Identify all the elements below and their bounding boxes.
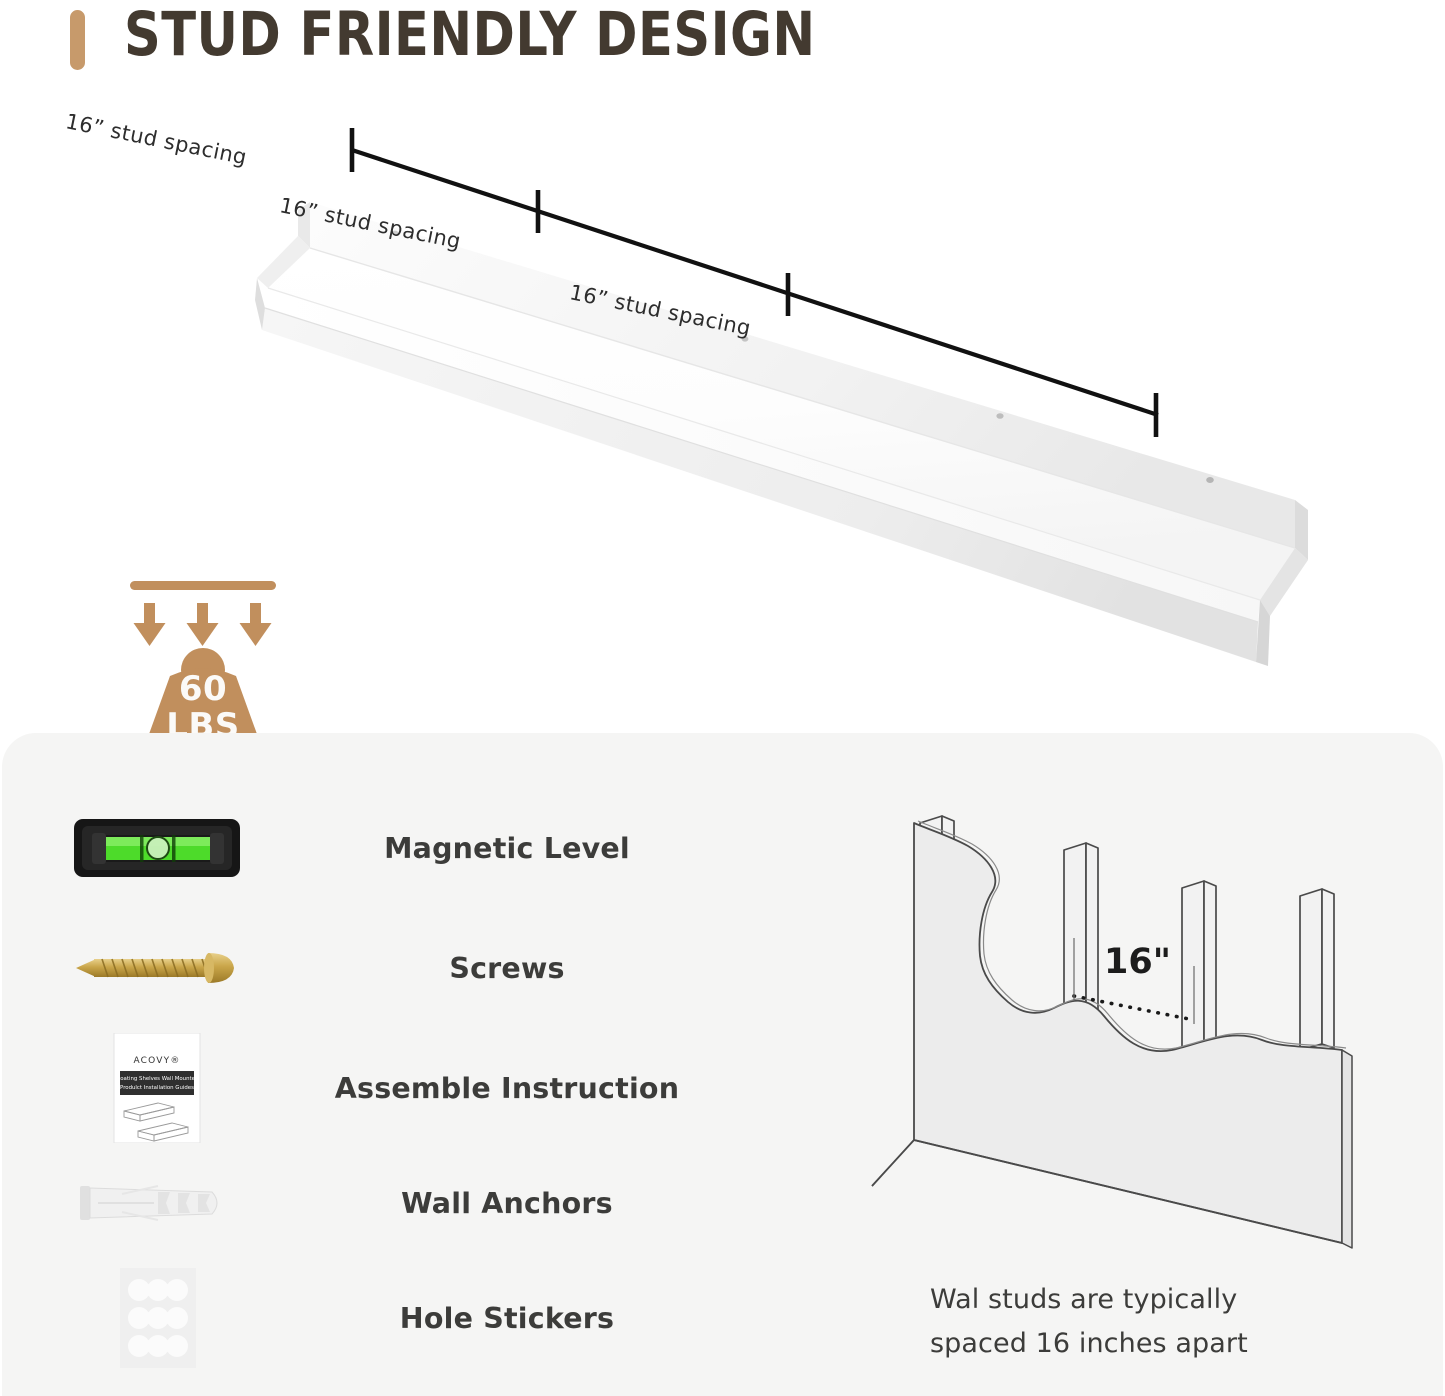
part-label-assemble-instruction: Assemble Instruction bbox=[252, 1072, 762, 1105]
list-item: Magnetic Level bbox=[62, 793, 762, 903]
parts-list: Magnetic Level bbox=[62, 783, 762, 1383]
part-label-hole-stickers: Hole Stickers bbox=[252, 1302, 762, 1335]
weight-value: 60 bbox=[179, 669, 227, 709]
header-section: STUD FRIENDLY DESIGN bbox=[0, 0, 1445, 95]
wall-stud-diagram: 16" Wal studs are typically spaced 16 in… bbox=[842, 788, 1362, 1348]
list-item: Screws bbox=[62, 913, 762, 1023]
page-title: STUD FRIENDLY DESIGN bbox=[124, 3, 816, 67]
wall-cutaway-illustration: 16" bbox=[842, 788, 1362, 1258]
title-accent-bar bbox=[70, 10, 85, 70]
caption-line-2: spaced 16 inches apart bbox=[930, 1328, 1248, 1359]
caption-line-1: Wal studs are typically bbox=[930, 1284, 1237, 1315]
booklet-line1: Floating Shelves Wall Mounted bbox=[116, 1076, 199, 1082]
hole-stickers-icon bbox=[62, 1263, 252, 1373]
hero-section: 16” stud spacing 16” stud spacing 16” st… bbox=[0, 95, 1445, 715]
part-label-magnetic-level: Magnetic Level bbox=[252, 832, 762, 865]
booklet-line2: Produlct Installation Guides bbox=[120, 1085, 194, 1091]
list-item: Hole Stickers bbox=[62, 1263, 762, 1373]
screw-icon bbox=[62, 913, 252, 1023]
part-label-screws: Screws bbox=[252, 952, 762, 985]
part-label-wall-anchors: Wall Anchors bbox=[252, 1187, 762, 1220]
list-item: Wall Anchors bbox=[62, 1148, 762, 1258]
magnetic-level-icon bbox=[62, 793, 252, 903]
wall-diagram-caption: Wal studs are typically spaced 16 inches… bbox=[930, 1278, 1350, 1365]
dimension-label-1: 16” stud spacing bbox=[64, 109, 249, 169]
wall-anchor-icon bbox=[62, 1148, 252, 1258]
stud-spacing-dimension-line bbox=[300, 95, 1220, 455]
booklet-brand-text: ACOVY® bbox=[133, 1056, 180, 1066]
stud-spacing-label: 16" bbox=[1104, 942, 1171, 982]
list-item: ACOVY® Floating Shelves Wall Mounted Pro… bbox=[62, 1033, 762, 1143]
accessories-panel: Magnetic Level bbox=[2, 733, 1443, 1396]
instruction-booklet-icon: ACOVY® Floating Shelves Wall Mounted Pro… bbox=[62, 1033, 252, 1143]
